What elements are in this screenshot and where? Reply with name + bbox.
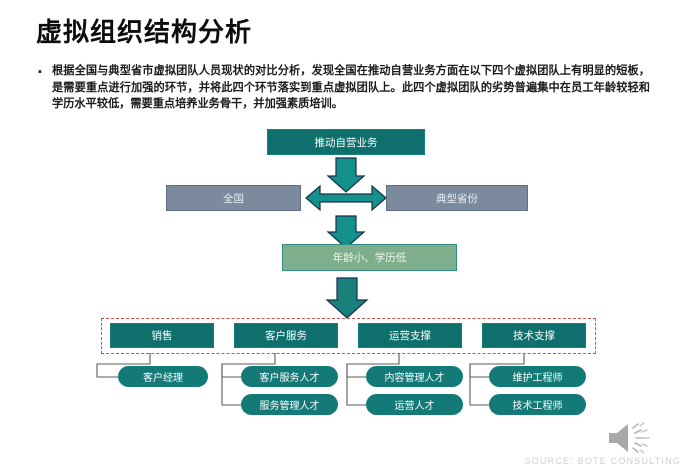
arrow-down-icon-top	[328, 158, 364, 192]
team-box-3-label: 运营支撑	[389, 328, 431, 343]
bullet-paragraph: ▪ 根据全国与典型省市虚拟团队人员现状的对比分析，发现全国在推动自营业务方面在以…	[38, 63, 650, 113]
bullet-marker-icon: ▪	[38, 63, 52, 80]
arrow-down-icon-bottom	[327, 278, 367, 318]
bullet-body-text: 根据全国与典型省市虚拟团队人员现状的对比分析，发现全国在推动自营业务方面在以下四…	[52, 63, 650, 113]
slide-canvas: 虚拟组织结构分析 ▪ 根据全国与典型省市虚拟团队人员现状的对比分析，发现全国在推…	[0, 0, 687, 475]
speaker-icon[interactable]	[606, 421, 654, 455]
node-top-initiative[interactable]: 推动自营业务	[267, 129, 425, 155]
role-pill-4-2-label: 技术工程师	[513, 397, 563, 412]
source-credit: SOURCE: BOTE CONSULTING	[525, 456, 681, 466]
role-pill-3-2-label: 运营人才	[395, 397, 435, 412]
team-box-4-label: 技术支撑	[513, 328, 555, 343]
team-box-2-label: 客户服务	[265, 328, 307, 343]
role-pill-4-1-label: 维护工程师	[513, 369, 563, 384]
node-typical-province[interactable]: 典型省份	[386, 185, 528, 211]
node-nationwide[interactable]: 全国	[166, 185, 301, 211]
team-box-1[interactable]: 销售	[110, 323, 214, 348]
node-typical-province-label: 典型省份	[436, 191, 478, 206]
page-title: 虚拟组织结构分析	[36, 18, 252, 47]
role-pill-1-1[interactable]: 客户经理	[118, 366, 208, 387]
role-pill-2-1-label: 客户服务人才	[260, 369, 320, 384]
arrow-left-right-icon	[306, 186, 386, 210]
team-box-2[interactable]: 客户服务	[234, 323, 338, 348]
node-nationwide-label: 全国	[223, 191, 244, 206]
team-box-1-label: 销售	[152, 328, 173, 343]
role-pill-3-1[interactable]: 内容管理人才	[366, 366, 463, 387]
role-pill-2-2[interactable]: 服务管理人才	[241, 394, 338, 415]
role-pill-2-2-label: 服务管理人才	[260, 397, 320, 412]
role-pill-3-1-label: 内容管理人才	[385, 369, 445, 384]
node-top-initiative-label: 推动自营业务	[315, 135, 378, 150]
team-box-4[interactable]: 技术支撑	[482, 323, 586, 348]
role-pill-1-1-label: 客户经理	[143, 369, 183, 384]
role-pill-2-1[interactable]: 客户服务人才	[241, 366, 338, 387]
role-pill-4-2[interactable]: 技术工程师	[489, 394, 586, 415]
role-pill-4-1[interactable]: 维护工程师	[489, 366, 586, 387]
role-pill-3-2[interactable]: 运营人才	[366, 394, 463, 415]
team-box-3[interactable]: 运营支撑	[358, 323, 462, 348]
node-finding[interactable]: 年龄小、学历低	[282, 244, 457, 271]
node-finding-label: 年龄小、学历低	[333, 250, 407, 265]
